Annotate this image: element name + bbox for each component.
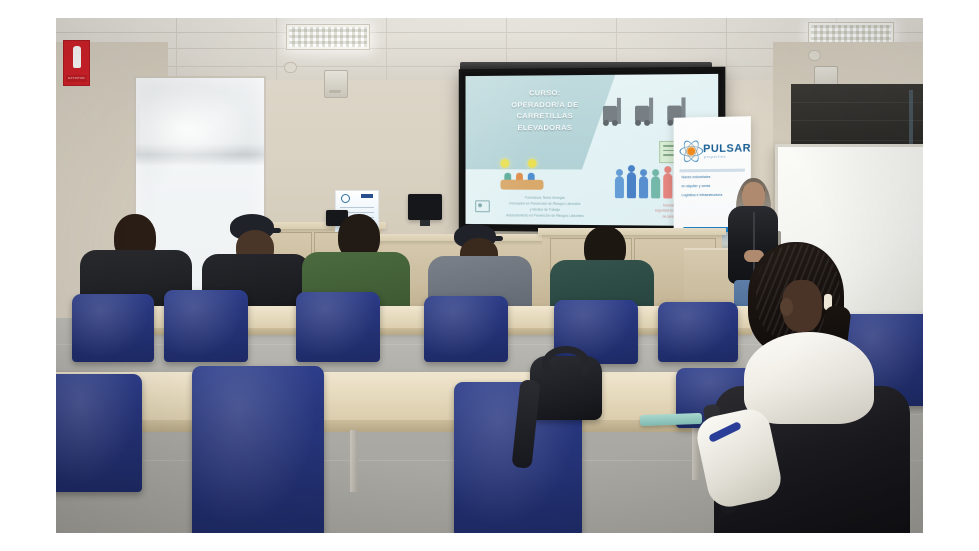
backpack-handle: [542, 346, 590, 382]
window-daylight-glow: [140, 84, 252, 174]
fire-extinguisher-sign: EXTINTOR: [63, 40, 90, 86]
backpack[interactable]: [530, 356, 602, 420]
student-6-ear: [780, 298, 793, 316]
chair-mid-1[interactable]: [56, 374, 142, 492]
poster-logo-icon: [341, 194, 350, 203]
forklift-icon-2: [633, 96, 659, 126]
person-figure-1: [615, 176, 624, 198]
student-6-hood: [744, 332, 874, 424]
person-figure-2: [627, 172, 636, 198]
student-6: [696, 236, 916, 533]
person-figure-4: [651, 176, 660, 198]
slide-footer-line-4: Asesoramiento en Prevención de Riesgos L…: [480, 212, 610, 219]
ceiling-light-panel-left: [286, 24, 370, 50]
wall-speaker-left: [324, 70, 348, 98]
atom-logo-icon: [680, 139, 704, 163]
slide-footer-text: Formadora: Nuria Venegas Formación en Pr…: [480, 194, 610, 219]
motion-sensor-icon: [808, 50, 821, 61]
classroom-photograph: EXTINTOR CURSO: OPERADOR/A DE: [56, 18, 923, 533]
instructor-head: [742, 182, 765, 209]
table-leg-1: [350, 430, 358, 492]
smoke-detector-icon: [284, 62, 297, 73]
fire-sign-label: EXTINTOR: [66, 75, 87, 82]
banner-text-line-1: Naves industriales: [681, 175, 742, 181]
chair-back-1[interactable]: [72, 294, 154, 362]
person-figure-5: [663, 173, 672, 198]
screenshot-canvas: EXTINTOR CURSO: OPERADOR/A DE: [0, 0, 979, 551]
pencil-case[interactable]: [640, 413, 702, 426]
banner-brand-tagline: properties: [704, 155, 726, 159]
banner-brand-name: PULSAR: [703, 142, 751, 155]
desk-monitor-1: [408, 194, 442, 220]
chair-back-2[interactable]: [164, 290, 248, 362]
training-table-illustration: [495, 159, 560, 192]
person-figure-3: [639, 176, 648, 198]
chair-mid-2[interactable]: [192, 366, 324, 533]
poster-brand-mark: [361, 194, 373, 198]
chair-back-3[interactable]: [296, 292, 380, 362]
forklift-icon-1: [601, 96, 627, 126]
chair-back-4[interactable]: [424, 296, 508, 362]
